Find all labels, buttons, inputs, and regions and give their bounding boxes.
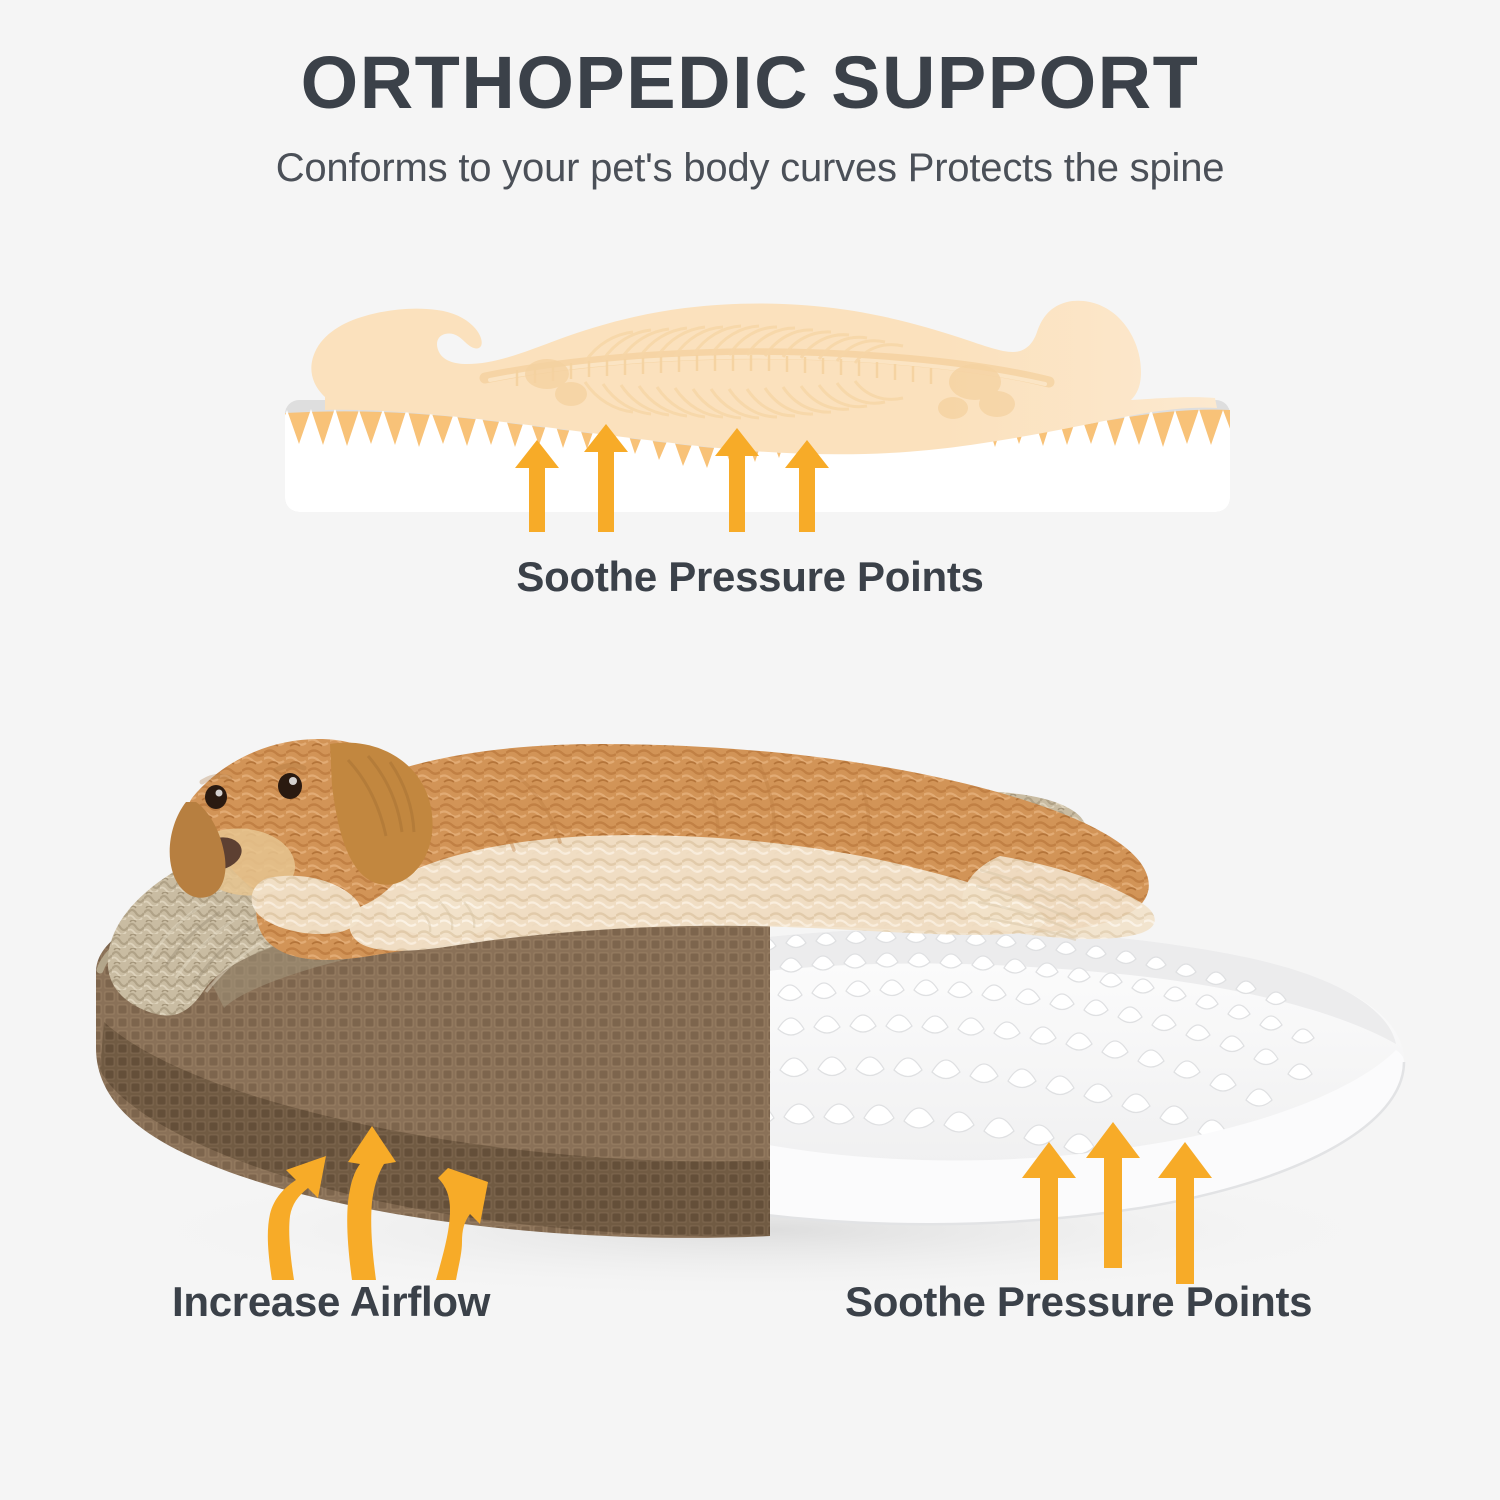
product-photo-scene [0, 640, 1500, 1320]
infographic-page: ORTHOPEDIC SUPPORT Conforms to your pet'… [0, 0, 1500, 1500]
dog-eye-left-glint [216, 790, 223, 797]
label-increase-airflow: Increase Airflow [172, 1278, 490, 1326]
diagram-caption: Soothe Pressure Points [0, 553, 1500, 601]
egg-crate-foam-cutaway [742, 928, 1404, 1224]
page-subtitle: Conforms to your pet's body curves Prote… [0, 146, 1500, 190]
page-title: ORTHOPEDIC SUPPORT [0, 46, 1500, 120]
bottom-labels: Increase Airflow Soothe Pressure Points [0, 1278, 1500, 1348]
diagram-svg [285, 282, 1230, 532]
pressure-arrows-photo [1022, 1122, 1212, 1284]
dog-eye-right-glint [289, 777, 297, 785]
dog-eye-left [205, 785, 227, 809]
header: ORTHOPEDIC SUPPORT Conforms to your pet'… [0, 46, 1500, 190]
orthopedic-cross-section-diagram [285, 282, 1230, 532]
label-soothe-pressure-points: Soothe Pressure Points [845, 1278, 1312, 1326]
dog-eye-right [278, 773, 302, 799]
scene-svg [0, 640, 1500, 1320]
